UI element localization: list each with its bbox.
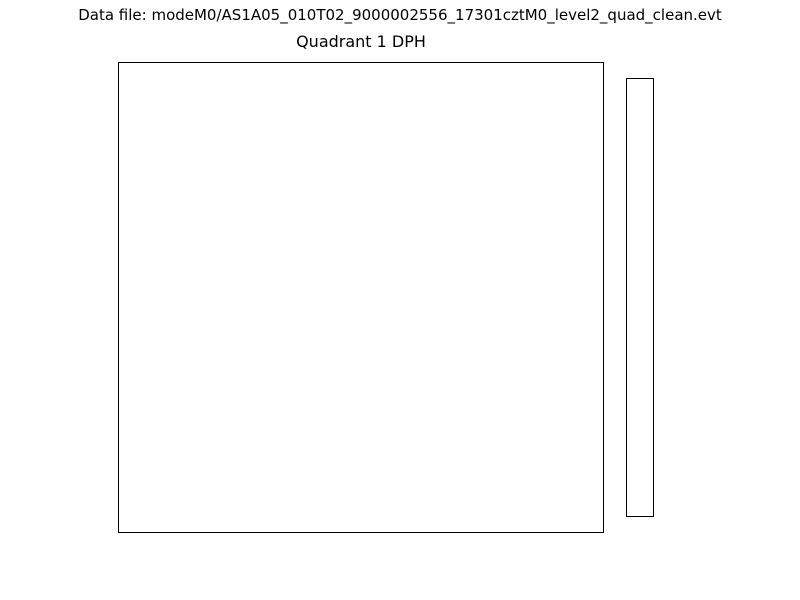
heatmap-axes[interactable] (118, 62, 604, 533)
dph-heatmap-image[interactable] (119, 63, 603, 532)
colorbar[interactable] (626, 62, 656, 533)
colorbar-body[interactable] (626, 78, 654, 517)
figure-suptitle: Data file: modeM0/AS1A05_010T02_90000025… (0, 6, 800, 24)
colorbar-extend-min-arrow (626, 516, 654, 533)
colorbar-extend-max-arrow (626, 62, 654, 79)
figure-canvas: Data file: modeM0/AS1A05_010T02_90000025… (0, 0, 800, 600)
axes-title: Quadrant 1 DPH (118, 32, 604, 51)
colorbar-gradient (627, 79, 653, 516)
